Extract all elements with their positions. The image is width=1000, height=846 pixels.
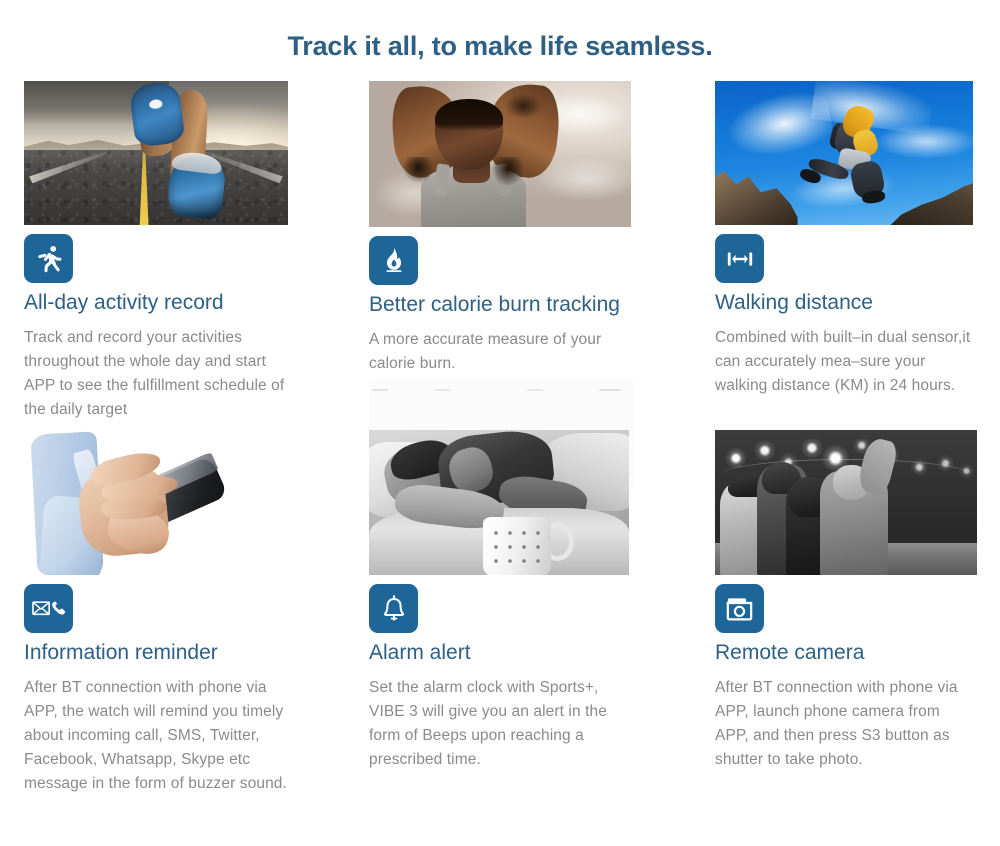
feature-title: All-day activity record [24,290,348,316]
background-artifact-line [372,389,630,391]
bell-icon [369,584,418,633]
feature-description: After BT connection with phone via APP, … [24,676,294,796]
feature-title: Remote camera [715,640,1000,666]
distance-measure-icon [715,234,764,283]
runner-on-road-image [24,81,288,225]
running-person-icon [24,234,73,283]
feature-grid: All-day activity record Track and record… [0,81,1000,796]
feature-description: A more accurate measure of your calorie … [369,328,633,376]
feature-row-top: All-day activity record Track and record… [0,81,1000,422]
feature-title: Better calorie burn tracking [369,292,696,318]
feature-card-information: Information reminder After BT connection… [0,430,348,796]
sleeping-couple-image [369,430,629,575]
feature-description: Combined with built–in dual sensor,it ca… [715,326,973,398]
feature-description: Set the alarm clock with Sports+, VIBE 3… [369,676,633,772]
hands-holding-phone-image [24,430,279,575]
feature-card-alarm: Alarm alert Set the alarm clock with Spo… [348,430,696,796]
camera-icon [715,584,764,633]
feature-title: Walking distance [715,290,1000,316]
jumping-over-canyon-image [715,81,973,225]
feature-card-calorie: Better calorie burn tracking A more accu… [348,81,696,422]
envelope-phone-icon [24,584,73,633]
feature-card-distance: Walking distance Combined with built–in … [696,81,1000,422]
flame-icon [369,236,418,285]
feature-card-activity: All-day activity record Track and record… [0,81,348,422]
feature-description: After BT connection with phone via APP, … [715,676,973,772]
page-title: Track it all, to make life seamless. [0,18,1000,63]
feature-title: Information reminder [24,640,348,666]
feature-row-bottom: Information reminder After BT connection… [0,430,1000,796]
feature-description: Track and record your activities through… [24,326,294,422]
friends-selfie-image [715,430,977,575]
feature-title: Alarm alert [369,640,696,666]
man-stretching-image [369,81,631,227]
feature-card-camera: Remote camera After BT connection with p… [696,430,1000,796]
